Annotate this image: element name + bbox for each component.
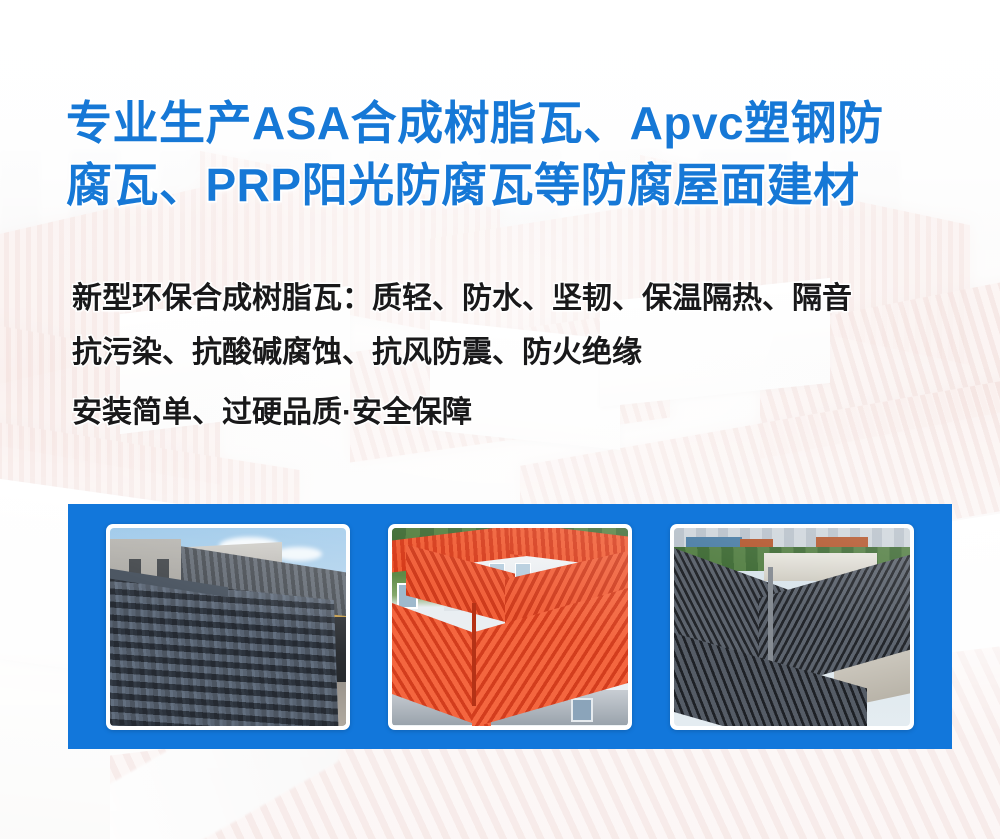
subcopy-line-3: 安装简单、过硬品质·安全保障 [72,386,962,440]
subcopy-line-2: 抗污染、抗酸碱腐蚀、抗风防震、防火绝缘 [72,326,962,380]
subcopy: 新型环保合成树脂瓦：质轻、防水、坚韧、保温隔热、隔音 抗污染、抗酸碱腐蚀、抗风防… [72,272,962,440]
headline: 专业生产ASA合成树脂瓦、Apvc塑钢防 腐瓦、PRP阳光防腐瓦等防腐屋面建材 [66,92,946,216]
red-resin-tile-roof-photo[interactable] [388,524,632,730]
headline-line-1: 专业生产ASA合成树脂瓦、Apvc塑钢防 [66,92,946,154]
photo1-sheen [110,528,346,726]
headline-line-2: 腐瓦、PRP阳光防腐瓦等防腐屋面建材 [66,154,946,216]
photo2-sheen [392,528,628,726]
dark-grey-tile-roof-photo[interactable] [670,524,914,730]
grey-resin-tile-roof-photo[interactable] [106,524,350,730]
subcopy-line-1: 新型环保合成树脂瓦：质轻、防水、坚韧、保温隔热、隔音 [72,272,962,326]
promo-banner: 专业生产ASA合成树脂瓦、Apvc塑钢防 腐瓦、PRP阳光防腐瓦等防腐屋面建材 … [0,0,1000,839]
photo3-sheen [674,528,910,726]
photo-gallery [68,504,952,749]
